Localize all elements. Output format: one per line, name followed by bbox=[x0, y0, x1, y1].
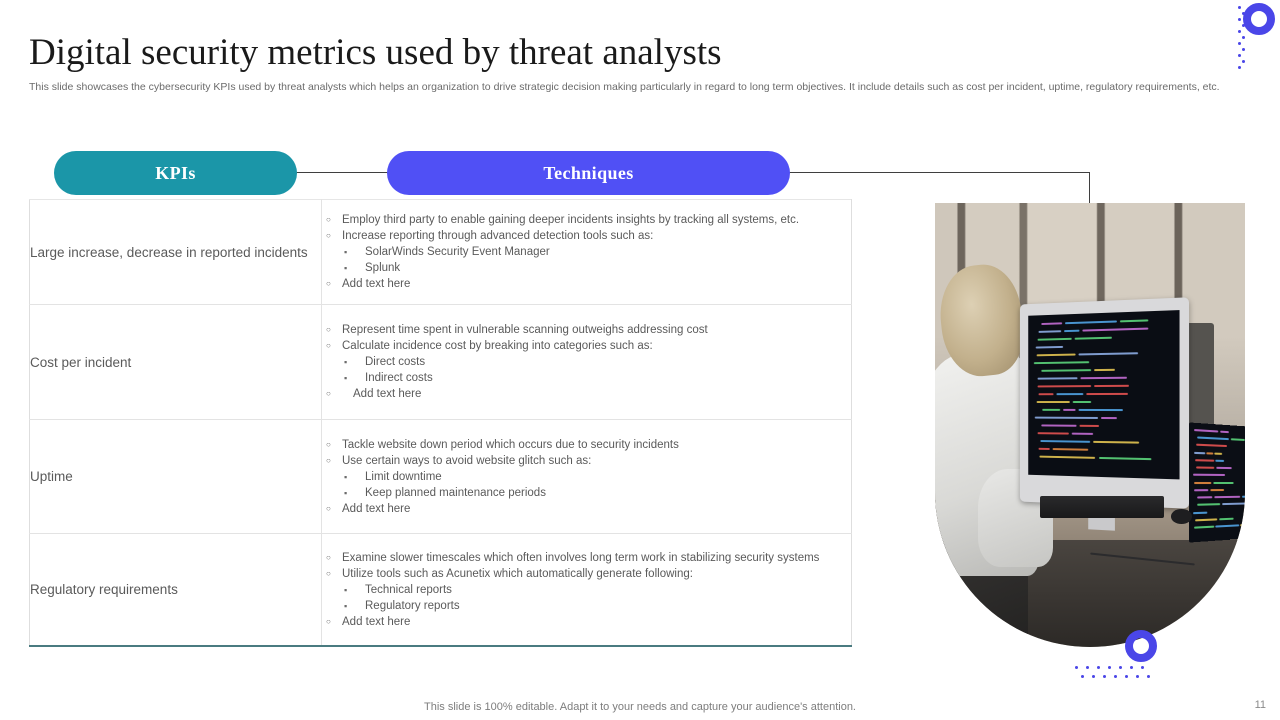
code-line bbox=[1086, 393, 1128, 395]
sub-list-item: SolarWinds Security Event Manager bbox=[342, 244, 851, 260]
kpi-name-cell: Regulatory requirements bbox=[30, 534, 322, 647]
page-title: Digital security metrics used by threat … bbox=[29, 30, 722, 76]
column-header-techniques-label: Techniques bbox=[543, 163, 633, 184]
connector-line-techniques-to-image bbox=[786, 172, 1090, 173]
dot bbox=[1108, 666, 1111, 669]
dot bbox=[1238, 66, 1241, 69]
code-line bbox=[1038, 393, 1053, 395]
code-line bbox=[1210, 489, 1224, 491]
dot bbox=[1119, 666, 1122, 669]
code-line bbox=[1194, 429, 1218, 433]
code-line bbox=[1038, 448, 1050, 450]
techniques-cell: Employ third party to enable gaining dee… bbox=[322, 200, 852, 305]
dot bbox=[1086, 666, 1089, 669]
code-line bbox=[1040, 440, 1089, 443]
kpi-name-cell: Cost per incident bbox=[30, 305, 322, 420]
list-item-label: Tackle website down period which occurs … bbox=[342, 439, 679, 451]
page-subtitle: This slide showcases the cybersecurity K… bbox=[29, 80, 1241, 94]
sub-list: Technical reportsRegulatory reports bbox=[342, 582, 851, 614]
photo-primary-monitor bbox=[1019, 297, 1188, 509]
sub-list-item: Indirect costs bbox=[342, 370, 851, 386]
list-item-label: Add text here bbox=[342, 616, 410, 628]
techniques-list: Tackle website down period which occurs … bbox=[322, 437, 851, 517]
list-item: Utilize tools such as Acunetix which aut… bbox=[322, 566, 851, 614]
dot bbox=[1141, 666, 1144, 669]
code-line bbox=[1197, 436, 1229, 440]
techniques-list: Represent time spent in vulnerable scann… bbox=[322, 322, 851, 402]
code-line bbox=[1063, 409, 1075, 411]
code-line bbox=[1035, 417, 1098, 419]
photo-monitor-screen bbox=[1027, 310, 1179, 479]
dot bbox=[1075, 666, 1078, 669]
list-item-label: Add text here bbox=[353, 388, 421, 400]
sub-list-item: Splunk bbox=[342, 260, 851, 276]
list-item: Add text here bbox=[322, 614, 851, 630]
code-line bbox=[1100, 417, 1116, 419]
code-line bbox=[1041, 424, 1076, 426]
photo-keyboard bbox=[1040, 496, 1164, 518]
list-item: Use certain ways to avoid website glitch… bbox=[322, 453, 851, 501]
column-header-techniques[interactable]: Techniques bbox=[387, 151, 790, 195]
code-line bbox=[1038, 330, 1060, 333]
dot bbox=[1092, 675, 1095, 678]
list-item-label: Represent time spent in vulnerable scann… bbox=[342, 324, 708, 336]
code-line bbox=[1039, 455, 1095, 458]
code-line bbox=[1197, 466, 1215, 468]
list-item: Employ third party to enable gaining dee… bbox=[322, 212, 851, 228]
code-line bbox=[1240, 524, 1245, 527]
code-line bbox=[1219, 518, 1234, 521]
code-line bbox=[1098, 457, 1151, 460]
dot bbox=[1238, 30, 1241, 33]
code-line bbox=[1194, 474, 1226, 476]
code-line bbox=[1196, 518, 1218, 521]
table-row: Cost per incidentRepresent time spent in… bbox=[30, 305, 852, 420]
code-line bbox=[1194, 526, 1214, 529]
kpi-techniques-table: Large increase, decrease in reported inc… bbox=[29, 199, 852, 647]
code-line bbox=[1214, 496, 1240, 498]
code-line bbox=[1042, 409, 1061, 411]
kpi-name-cell: Large increase, decrease in reported inc… bbox=[30, 200, 322, 305]
sub-list-item: Limit downtime bbox=[342, 469, 851, 485]
techniques-cell: Represent time spent in vulnerable scann… bbox=[322, 305, 852, 420]
code-line bbox=[1079, 425, 1099, 427]
sub-list: Limit downtimeKeep planned maintenance p… bbox=[342, 469, 851, 501]
dot bbox=[1103, 675, 1106, 678]
code-line bbox=[1092, 441, 1138, 444]
code-line bbox=[1242, 496, 1245, 498]
code-line bbox=[1036, 401, 1069, 403]
dot bbox=[1238, 54, 1241, 57]
code-line bbox=[1037, 432, 1068, 434]
list-item-label: Utilize tools such as Acunetix which aut… bbox=[342, 568, 693, 580]
code-line bbox=[1215, 452, 1222, 454]
techniques-list: Examine slower timescales which often in… bbox=[322, 550, 851, 630]
sub-list: Direct costsIndirect costs bbox=[342, 354, 851, 386]
sub-list-item: Regulatory reports bbox=[342, 598, 851, 614]
donut-ring-icon-bottom bbox=[1125, 630, 1157, 662]
workstation-photo bbox=[935, 203, 1245, 647]
dot bbox=[1114, 675, 1117, 678]
list-item: Increase reporting through advanced dete… bbox=[322, 228, 851, 276]
code-line bbox=[1215, 524, 1239, 527]
list-item: Tackle website down period which occurs … bbox=[322, 437, 851, 453]
code-line bbox=[1079, 409, 1123, 411]
techniques-cell: Examine slower timescales which often in… bbox=[322, 534, 852, 647]
dot bbox=[1136, 675, 1139, 678]
list-item: Add text here bbox=[322, 386, 851, 402]
code-line bbox=[1093, 385, 1128, 387]
code-line bbox=[1216, 459, 1225, 461]
code-line bbox=[1056, 393, 1083, 395]
code-line bbox=[1216, 467, 1232, 469]
code-line bbox=[1080, 377, 1127, 379]
techniques-list: Employ third party to enable gaining dee… bbox=[322, 212, 851, 292]
dot bbox=[1242, 36, 1245, 39]
list-item: Examine slower timescales which often in… bbox=[322, 550, 851, 566]
dot bbox=[1081, 675, 1084, 678]
dot bbox=[1238, 6, 1241, 9]
table-row: UptimeTackle website down period which o… bbox=[30, 420, 852, 534]
sub-list-item: Technical reports bbox=[342, 582, 851, 598]
connector-line-vertical-drop bbox=[1089, 172, 1090, 203]
code-line bbox=[1036, 346, 1063, 349]
code-line bbox=[1041, 322, 1062, 325]
code-line bbox=[1074, 337, 1111, 340]
list-item-label: Examine slower timescales which often in… bbox=[342, 552, 819, 564]
list-item-label: Increase reporting through advanced dete… bbox=[342, 230, 653, 242]
code-line bbox=[1036, 354, 1075, 357]
dot bbox=[1242, 48, 1245, 51]
dot bbox=[1238, 42, 1241, 45]
code-line bbox=[1207, 452, 1214, 454]
dot bbox=[1242, 60, 1245, 63]
table-row: Large increase, decrease in reported inc… bbox=[30, 200, 852, 305]
code-line bbox=[1033, 361, 1089, 364]
list-item: Add text here bbox=[322, 276, 851, 292]
techniques-cell: Tackle website down period which occurs … bbox=[322, 420, 852, 534]
table-row: Regulatory requirementsExamine slower ti… bbox=[30, 534, 852, 647]
sub-list: SolarWinds Security Event ManagerSplunk bbox=[342, 244, 851, 276]
list-item-label: Use certain ways to avoid website glitch… bbox=[342, 455, 591, 467]
list-item-label: Add text here bbox=[342, 278, 410, 290]
code-line bbox=[1196, 444, 1227, 447]
code-line bbox=[1082, 328, 1148, 332]
code-line bbox=[1119, 319, 1147, 322]
code-line bbox=[1072, 433, 1093, 435]
code-line bbox=[1194, 489, 1209, 491]
code-line bbox=[1197, 503, 1221, 506]
kpi-name-cell: Uptime bbox=[30, 420, 322, 534]
footer-note: This slide is 100% editable. Adapt it to… bbox=[0, 701, 1280, 713]
code-line bbox=[1195, 459, 1214, 462]
dot bbox=[1238, 18, 1241, 21]
code-line bbox=[1213, 482, 1234, 484]
code-line bbox=[1041, 369, 1090, 372]
code-line bbox=[1037, 385, 1090, 387]
code-line bbox=[1093, 369, 1114, 371]
code-line bbox=[1063, 330, 1079, 332]
code-line bbox=[1222, 503, 1245, 506]
code-line bbox=[1052, 448, 1088, 451]
sub-list-item: Keep planned maintenance periods bbox=[342, 485, 851, 501]
list-item: Calculate incidence cost by breaking int… bbox=[322, 338, 851, 386]
code-line bbox=[1038, 377, 1078, 379]
list-item: Represent time spent in vulnerable scann… bbox=[322, 322, 851, 338]
donut-ring-icon-top-right bbox=[1243, 3, 1275, 35]
column-header-kpis[interactable]: KPIs bbox=[54, 151, 297, 195]
list-item-label: Add text here bbox=[342, 503, 410, 515]
sub-list-item: Direct costs bbox=[342, 354, 851, 370]
list-item: Add text here bbox=[322, 501, 851, 517]
code-line bbox=[1194, 482, 1212, 484]
code-line bbox=[1072, 401, 1090, 403]
list-item-label: Calculate incidence cost by breaking int… bbox=[342, 340, 653, 352]
code-line bbox=[1065, 321, 1116, 325]
list-item-label: Employ third party to enable gaining dee… bbox=[342, 214, 799, 226]
dot bbox=[1130, 666, 1133, 669]
code-line bbox=[1197, 496, 1213, 498]
code-line bbox=[1038, 338, 1072, 341]
code-line bbox=[1078, 352, 1138, 355]
column-header-kpis-label: KPIs bbox=[155, 163, 196, 184]
code-line bbox=[1231, 438, 1245, 441]
dot bbox=[1125, 675, 1128, 678]
dot bbox=[1097, 666, 1100, 669]
dot bbox=[1147, 675, 1150, 678]
code-line bbox=[1193, 511, 1207, 514]
photo-laptop bbox=[1189, 422, 1245, 543]
connector-line-kpis-to-techniques bbox=[290, 172, 392, 173]
code-line bbox=[1194, 451, 1205, 453]
page-number: 11 bbox=[1255, 699, 1266, 711]
code-line bbox=[1220, 430, 1229, 433]
